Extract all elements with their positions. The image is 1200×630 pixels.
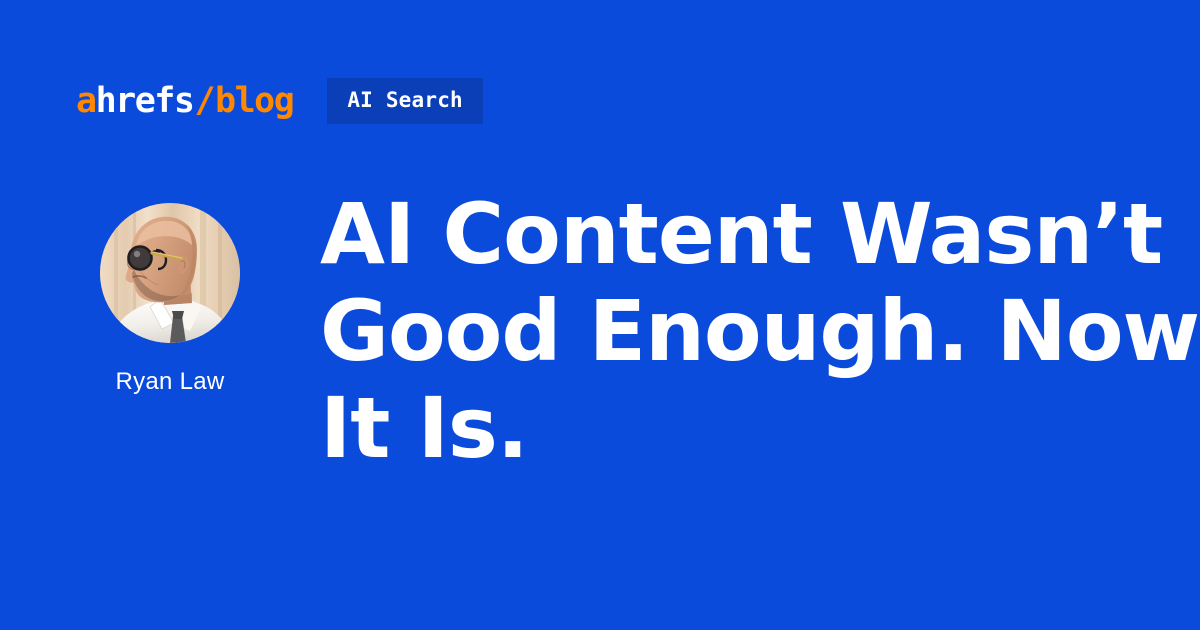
logo-text-blog: blog (215, 84, 293, 119)
author-avatar-photo (100, 203, 240, 343)
logo-letter-a: a (76, 84, 96, 119)
og-card: ahrefs/blog AI Search (0, 0, 1200, 630)
page-title: AI Content Wasn’t Good Enough. Now It Is… (320, 186, 1140, 477)
author-name: Ryan Law (115, 369, 224, 395)
header: ahrefs/blog AI Search (76, 78, 483, 124)
title-line-3: It Is. (320, 380, 1140, 477)
ahrefs-blog-logo[interactable]: ahrefs/blog (76, 84, 293, 119)
category-badge-ai-search[interactable]: AI Search (327, 78, 483, 124)
author-block: Ryan Law (100, 203, 240, 395)
title-line-2: Good Enough. Now (320, 283, 1140, 380)
logo-slash-icon: / (193, 84, 215, 119)
title-line-1: AI Content Wasn’t (320, 186, 1140, 283)
logo-text-hrefs: hrefs (96, 84, 194, 119)
avatar (100, 203, 240, 343)
